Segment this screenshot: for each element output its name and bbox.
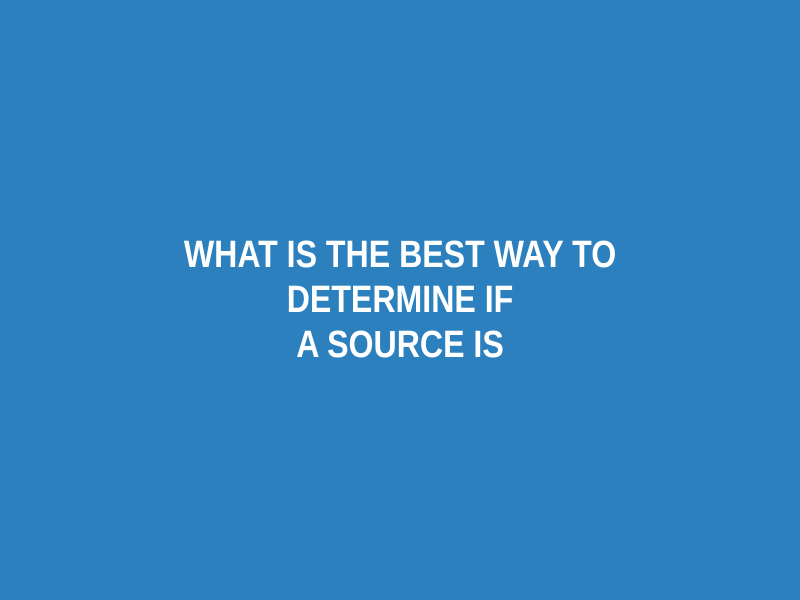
- hero-title-card: What is the best way to determine if a s…: [0, 0, 800, 600]
- page-title: What is the best way to determine if a s…: [109, 233, 690, 368]
- hero-title-block: What is the best way to determine if a s…: [0, 233, 800, 368]
